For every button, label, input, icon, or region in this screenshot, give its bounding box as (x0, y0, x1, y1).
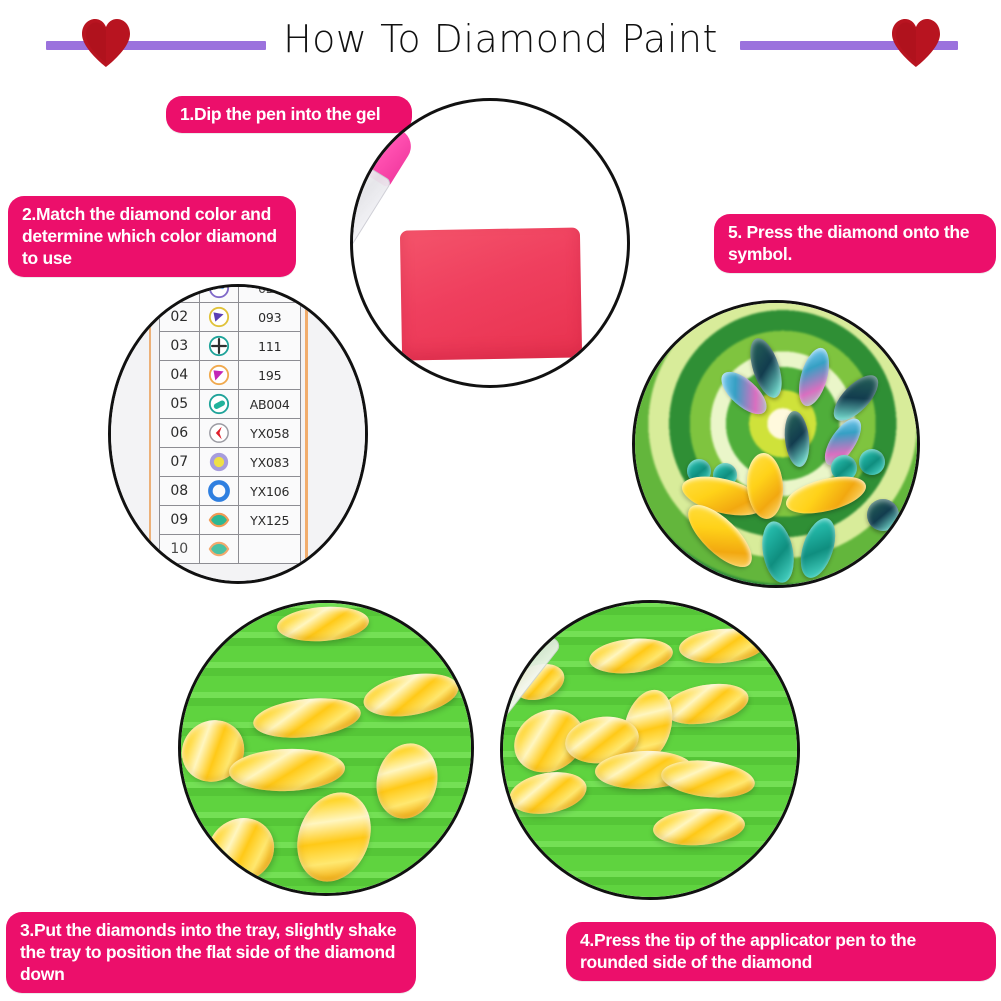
chart-cell-code: YX058 (239, 419, 301, 448)
gel-pad (400, 227, 582, 360)
color-chart-row: 01020 (160, 284, 301, 303)
photo-pen-picking-diamond (500, 600, 800, 900)
step-3-label: 3.Put the diamonds into the tray, slight… (6, 912, 416, 993)
photo-diamond-onto-symbol (632, 300, 920, 588)
chart-cell-number: 01 (160, 284, 200, 303)
chart-cell-code: YX125 (239, 506, 301, 535)
chart-cell-symbol (199, 361, 239, 390)
step-4-label: 4.Press the tip of the applicator pen to… (566, 922, 996, 981)
color-chart-row: 02093 (160, 303, 301, 332)
pill-slash-symbol (208, 393, 230, 415)
photo-diamonds-in-tray (178, 600, 474, 896)
chart-cell-symbol (199, 535, 239, 564)
pen-brass-tip (632, 354, 633, 421)
plus-circle-symbol (208, 335, 230, 357)
arrow-left-symbol (208, 422, 230, 444)
color-chart-row: 08YX106 (160, 477, 301, 506)
chart-cell-code: YX106 (239, 477, 301, 506)
gem (859, 449, 885, 475)
chart-cell-code: AB004 (239, 390, 301, 419)
chart-cell-symbol (199, 419, 239, 448)
chart-cell-symbol (199, 390, 239, 419)
chart-cell-number: 04 (160, 361, 200, 390)
step-5-label: 5. Press the diamond onto the symbol. (714, 214, 996, 273)
color-chart-row: 07YX083 (160, 448, 301, 477)
dot-ring-symbol (208, 451, 230, 473)
color-chart-row: 05AB004 (160, 390, 301, 419)
chart-cell-number: 08 (160, 477, 200, 506)
chart-cell-code: 195 (239, 361, 301, 390)
chart-cell-symbol (199, 284, 239, 303)
chart-cell-symbol (199, 506, 239, 535)
chart-cell-number: 07 (160, 448, 200, 477)
chart-cell-number: 02 (160, 303, 200, 332)
chart-cell-symbol (199, 477, 239, 506)
chart-cell-number: 09 (160, 506, 200, 535)
chart-cell-code: 020 (239, 284, 301, 303)
chart-cell-number: 10 (160, 535, 200, 564)
chart-cell-number: 03 (160, 332, 200, 361)
leaf-symbol (208, 538, 230, 560)
chart-cell-number: 05 (160, 390, 200, 419)
color-chart-row: 10 (160, 535, 301, 564)
color-chart-table: 0102002093031110419505AB00406YX05807YX08… (159, 284, 301, 564)
eyes-circle-symbol (208, 284, 230, 299)
photo-color-chart: 0102002093031110419505AB00406YX05807YX08… (108, 284, 368, 584)
page-title: How To Diamond Paint (0, 16, 1001, 62)
page-header: How To Diamond Paint (0, 0, 1001, 80)
triangle-magenta-symbol (208, 364, 230, 386)
color-chart-row: 09YX125 (160, 506, 301, 535)
step-2-label: 2.Match the diamond color and determine … (8, 196, 296, 277)
chart-cell-symbol (199, 448, 239, 477)
leaf-symbol (208, 509, 230, 531)
donut-symbol (208, 480, 230, 502)
color-chart-row: 04195 (160, 361, 301, 390)
chart-cell-code: YX083 (239, 448, 301, 477)
photo-pen-into-gel (350, 98, 630, 388)
color-chart-row: 03111 (160, 332, 301, 361)
chart-cell-code (239, 535, 301, 564)
chart-cell-number: 06 (160, 419, 200, 448)
gem (867, 499, 899, 531)
chart-cell-code: 093 (239, 303, 301, 332)
triangle-circle-symbol (208, 306, 230, 328)
chart-cell-symbol (199, 332, 239, 361)
chart-cell-symbol (199, 303, 239, 332)
color-chart-row: 06YX058 (160, 419, 301, 448)
chart-cell-code: 111 (239, 332, 301, 361)
